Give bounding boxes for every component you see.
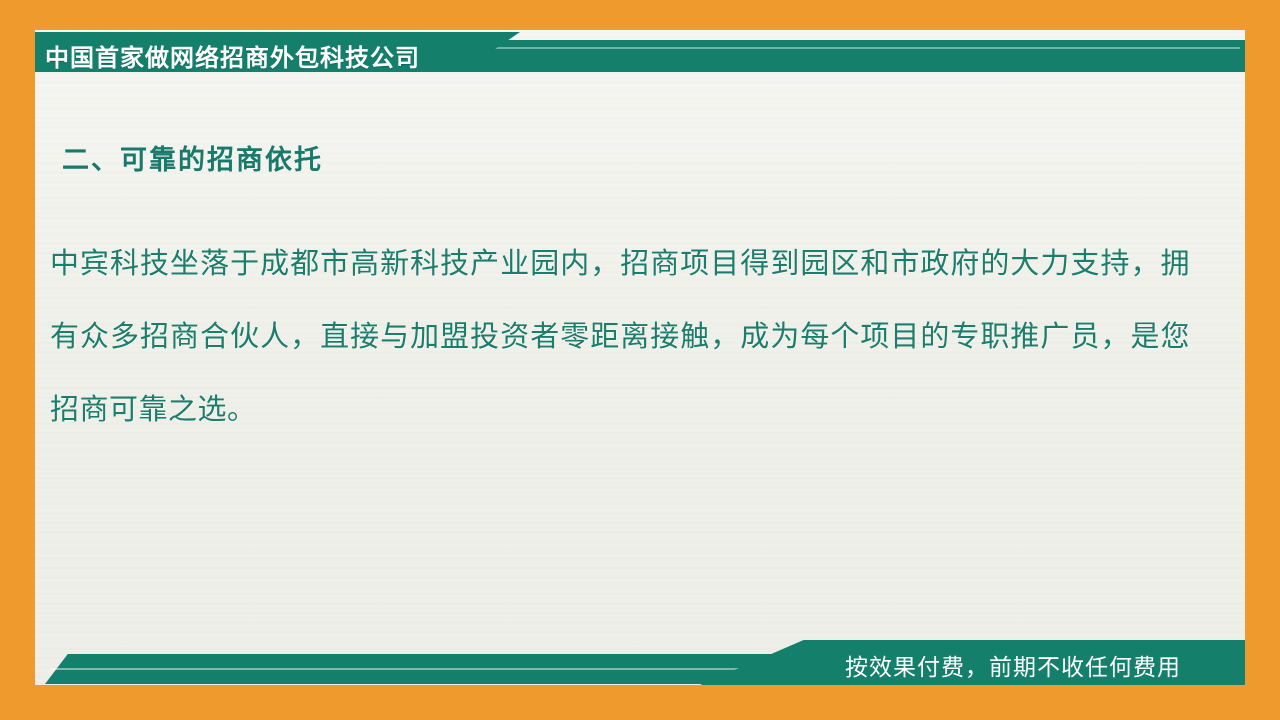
footer-accent-line [50, 668, 750, 670]
section-heading: 二、可靠的招商依托 [62, 138, 323, 177]
header-title: 中国首家做网络招商外包科技公司 [45, 38, 515, 73]
body-paragraph: 中宾科技坐落于成都市高新科技产业园内，招商项目得到园区和市政府的大力支持，拥有众… [50, 228, 1190, 447]
footer-tagline: 按效果付费，前期不收任何费用 [845, 648, 1245, 682]
slide-root: 中国首家做网络招商外包科技公司 二、可靠的招商依托 中宾科技坐落于成都市高新科技… [0, 0, 1280, 720]
